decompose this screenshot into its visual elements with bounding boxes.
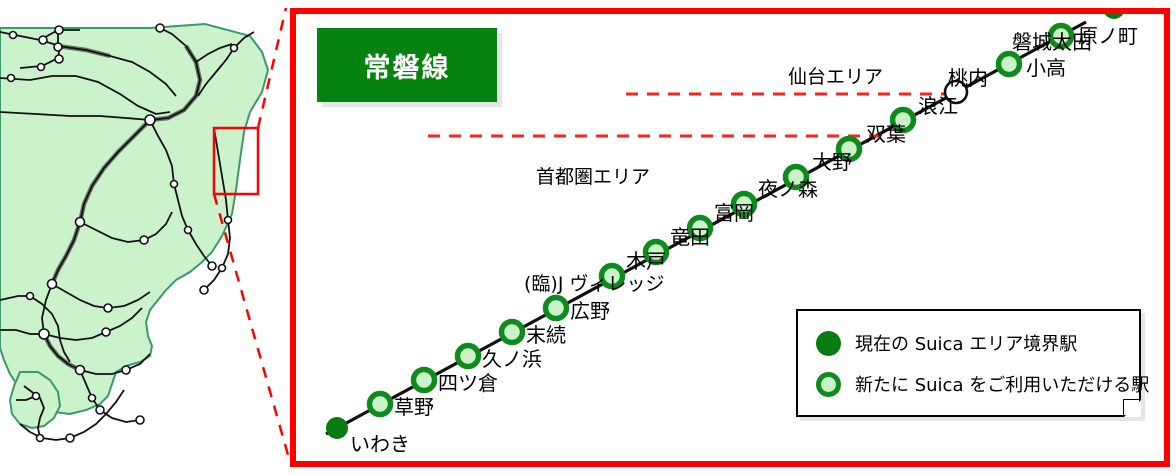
station-label-haranomachi: 原ノ町 (1078, 20, 1138, 49)
station-marker-kusano (370, 394, 391, 415)
legend-text-current-boundary: 現在の Suica エリア境界駅 (855, 330, 1077, 356)
overview-map-panel (0, 0, 290, 475)
station-label-odaka: 小高 (1026, 52, 1066, 81)
station-label-ono: 大野 (812, 146, 852, 175)
green-ring-dot-icon (816, 372, 841, 397)
legend-item-new-suica: 新たに Suica をご利用いただける駅 (816, 371, 1149, 397)
line-title-label: 常磐線 (364, 46, 451, 85)
station-marker-hirono (546, 298, 567, 319)
station-label-tatsuta: 竜田 (670, 221, 710, 250)
station-marker-haranomachi (1103, 14, 1125, 19)
station-label-futaba: 双葉 (866, 118, 906, 147)
jouban-line-detail-panel: 常磐線 仙台エリア 首都圏エリア いわき 草野 四ツ倉 久ノ浜 末続 広野 (臨… (290, 8, 1170, 467)
station-label-momouchi: 桃内 (948, 62, 988, 91)
station-marker-yotsukura (414, 370, 435, 391)
station-marker-iwaki (326, 417, 348, 439)
legend-box: 現在の Suica エリア境界駅 新たに Suica をご利用いただける駅 (796, 309, 1141, 417)
station-label-iwaki: いわき (350, 428, 410, 457)
area-label-shutoken: 首都圏エリア (536, 162, 650, 189)
station-label-kido: 木戸 (626, 245, 666, 274)
overview-map-graphic (0, 0, 290, 475)
station-label-kusano: 草野 (394, 391, 434, 420)
station-marker-momouchi (999, 54, 1020, 75)
station-label-tomioka: 富岡 (714, 197, 754, 226)
station-marker-suetsugi (502, 322, 523, 343)
legend-item-current-boundary: 現在の Suica エリア境界駅 (816, 330, 1077, 356)
filled-green-dot-icon (816, 331, 841, 356)
station-label-suetsugi: 末続 (526, 319, 566, 348)
station-label-yonomori: 夜ノ森 (758, 173, 818, 202)
station-label-namie: 浪江 (918, 90, 958, 119)
area-label-sendai: 仙台エリア (788, 62, 883, 89)
legend-text-new-suica: 新たに Suica をご利用いただける駅 (855, 371, 1149, 397)
station-label-hirono: 広野 (570, 295, 610, 324)
line-title-plate: 常磐線 (317, 28, 497, 102)
station-marker-hisanohama (458, 346, 479, 367)
